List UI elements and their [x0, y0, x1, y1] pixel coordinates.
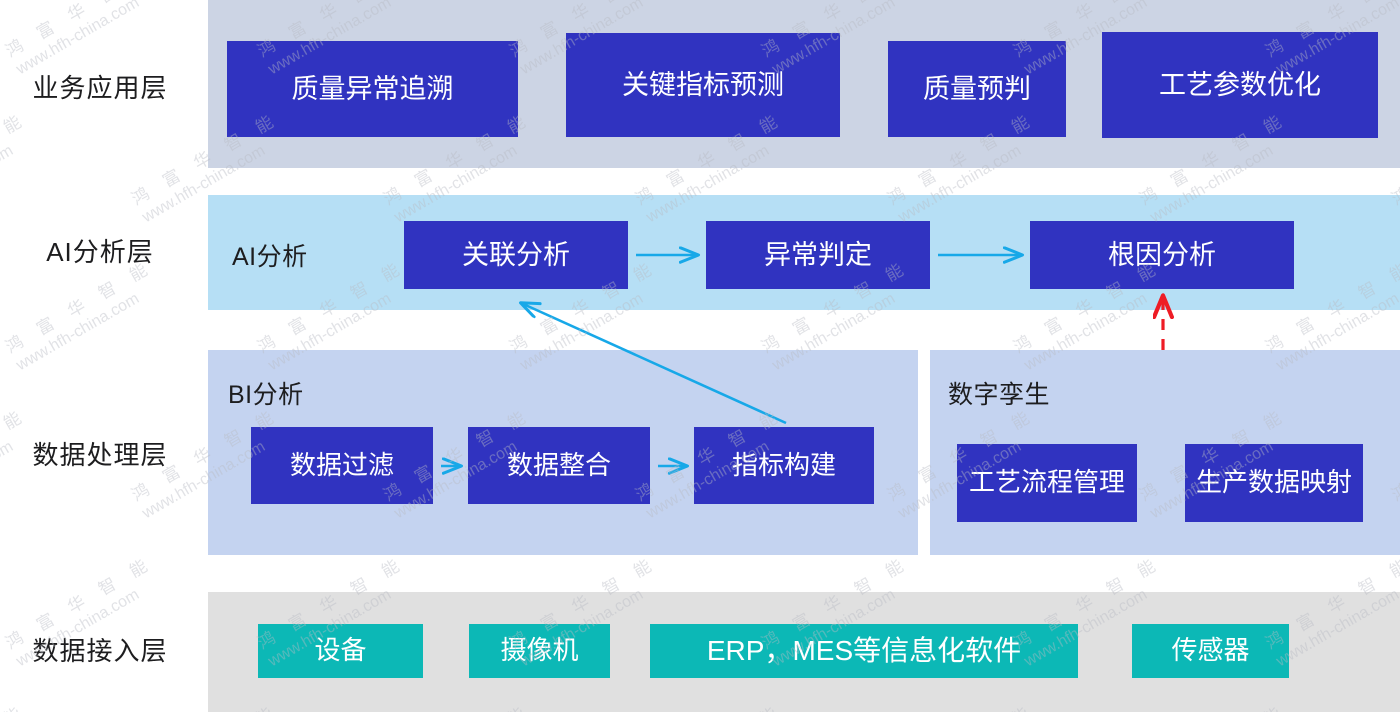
box-process-param-optimization[interactable]: 工艺参数优化: [1102, 32, 1378, 138]
box-index-construction[interactable]: 指标构建: [694, 427, 874, 504]
box-process-flow-management[interactable]: 工艺流程管理: [957, 444, 1137, 522]
watermark-text: 鸿 富 华 智 能 www.hfh-china.com: [0, 697, 41, 712]
watermark-text: 鸿 富 华 智 能 www.hfh-china.com: [0, 253, 167, 375]
box-quality-forecast[interactable]: 质量预判: [888, 41, 1066, 137]
box-root-cause-analysis[interactable]: 根因分析: [1030, 221, 1294, 289]
box-erp-mes-software[interactable]: ERP，MES等信息化软件: [650, 624, 1078, 678]
watermark-text: 鸿 富 华 智 能 www.hfh-china.com: [0, 105, 41, 227]
layer-label-data-access: 数据接入层: [0, 637, 200, 666]
layer-label-ai: AI分析层: [0, 238, 200, 267]
box-quality-anomaly-trace[interactable]: 质量异常追溯: [227, 41, 518, 137]
panel-title-bi-analysis: BI分析: [228, 375, 304, 411]
box-device[interactable]: 设备: [258, 624, 423, 678]
box-key-index-prediction[interactable]: 关键指标预测: [566, 33, 840, 137]
panel-title-ai-analysis: AI分析: [232, 237, 308, 273]
box-camera[interactable]: 摄像机: [469, 624, 610, 678]
layer-label-data-processing: 数据处理层: [0, 441, 200, 470]
box-anomaly-determination[interactable]: 异常判定: [706, 221, 930, 289]
box-correlation-analysis[interactable]: 关联分析: [404, 221, 628, 289]
box-data-integration[interactable]: 数据整合: [468, 427, 650, 504]
watermark-text: 鸿 富 华 智 能 www.hfh-china.com: [0, 0, 167, 79]
box-data-filter[interactable]: 数据过滤: [251, 427, 433, 504]
architecture-diagram: 业务应用层 质量异常追溯 关键指标预测 质量预判 工艺参数优化 AI分析层 AI…: [0, 0, 1400, 712]
layer-label-business: 业务应用层: [0, 74, 200, 103]
panel-title-digital-twin: 数字孪生: [948, 375, 1050, 411]
box-sensor[interactable]: 传感器: [1132, 624, 1289, 678]
box-production-data-mapping[interactable]: 生产数据映射: [1185, 444, 1363, 522]
